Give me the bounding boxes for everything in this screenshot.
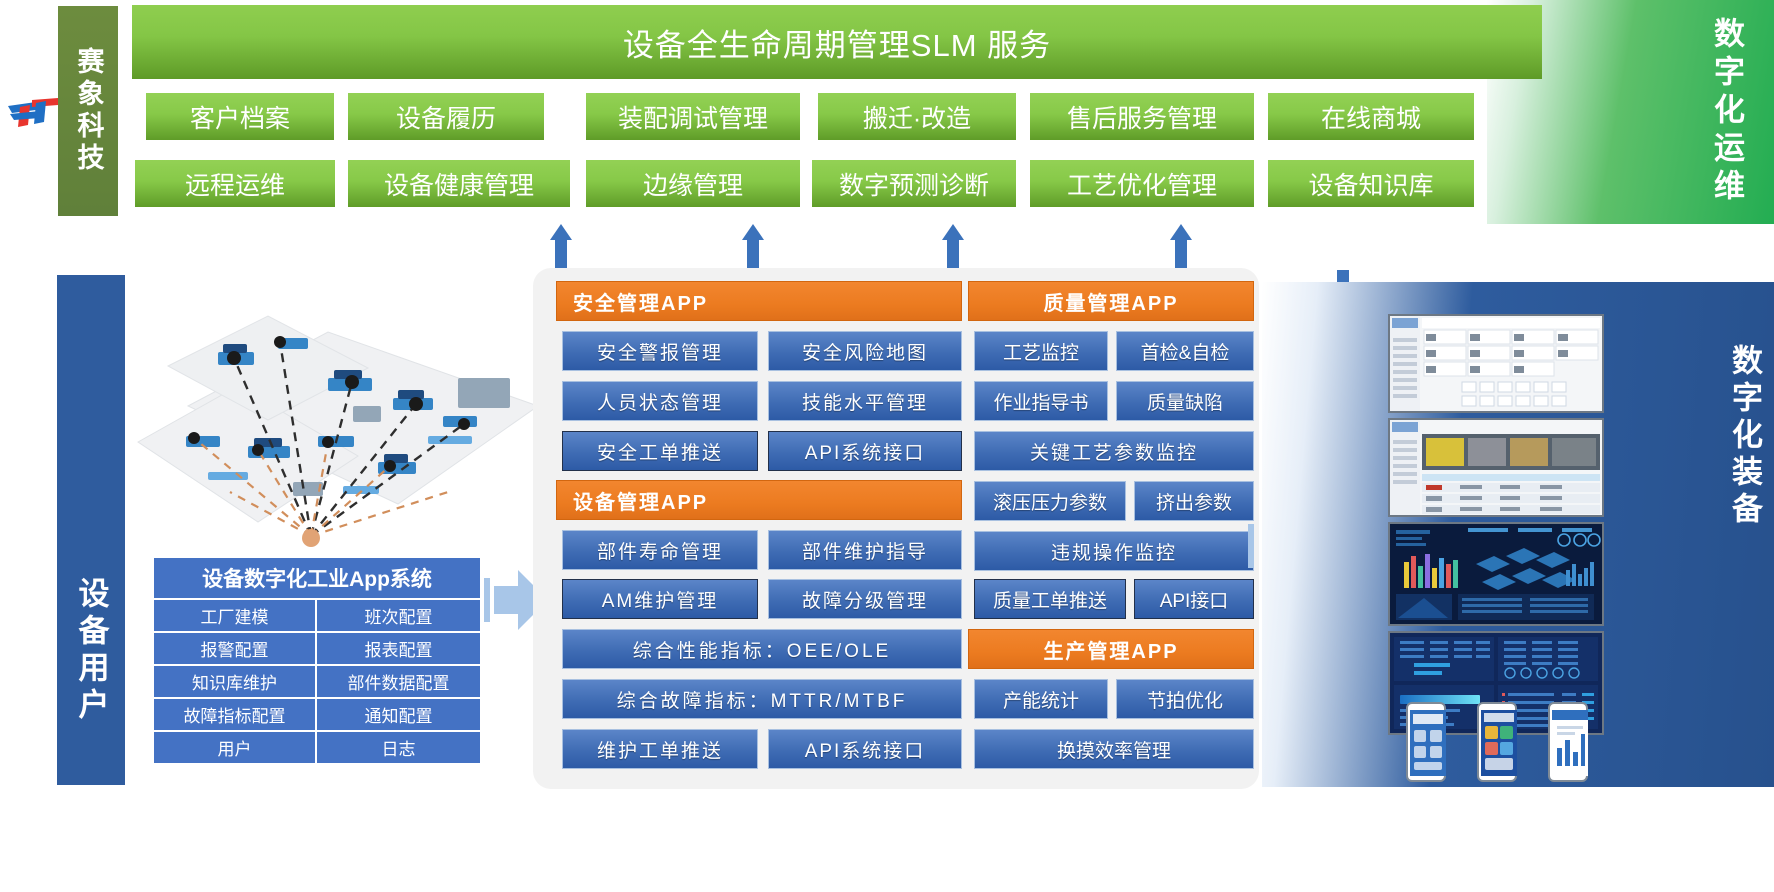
quality-tile-violation-monitoring[interactable]: 违规操作监控 xyxy=(974,531,1254,571)
factory-illustration xyxy=(128,286,548,576)
mobile-app-mock-3 xyxy=(1548,702,1588,782)
safety-app-title: 安全管理APP xyxy=(573,287,708,316)
slm-chip-customer-file[interactable]: 客户档案 xyxy=(146,93,334,140)
chip-label: 设备履历 xyxy=(396,99,496,135)
quality-tile-work-instruction[interactable]: 作业指导书 xyxy=(974,381,1108,421)
chip-label: 搬迁·改造 xyxy=(863,99,971,135)
dashboard-mock-monitoring xyxy=(1388,418,1604,517)
tst-logo xyxy=(6,92,60,132)
chip-label: 数字预测诊断 xyxy=(839,166,989,202)
config-cell-knowledge-maintenance[interactable]: 知识库维护 xyxy=(154,664,317,697)
slm-chip-edge-management[interactable]: 边缘管理 xyxy=(586,160,800,207)
production-tile-takt-optimization[interactable]: 节拍优化 xyxy=(1116,679,1254,719)
production-tile-capacity-statistics[interactable]: 产能统计 xyxy=(974,679,1108,719)
slm-chip-equipment-health[interactable]: 设备健康管理 xyxy=(348,160,570,207)
config-cell-factory-modeling[interactable]: 工厂建模 xyxy=(154,598,317,631)
safety-tile-personnel-status[interactable]: 人员状态管理 xyxy=(562,381,758,421)
quality-tile-key-process-parameter-monitoring[interactable]: 关键工艺参数监控 xyxy=(974,431,1254,471)
chip-label: 售后服务管理 xyxy=(1067,99,1217,135)
equipment-app-title: 设备管理APP xyxy=(573,486,708,515)
slm-chip-online-mall[interactable]: 在线商城 xyxy=(1268,93,1474,140)
quality-tile-quality-defect[interactable]: 质量缺陷 xyxy=(1116,381,1254,421)
brand-left-bar: 赛象科技 xyxy=(58,6,118,216)
slm-chip-assembly-commissioning[interactable]: 装配调试管理 xyxy=(586,93,800,140)
config-cell-alarm-config[interactable]: 报警配置 xyxy=(154,631,317,664)
mobile-app-mock-2 xyxy=(1477,702,1517,782)
safety-tile-work-order-push[interactable]: 安全工单推送 xyxy=(562,431,758,471)
chip-label: 设备健康管理 xyxy=(384,166,534,202)
mobile-app-mock-1 xyxy=(1406,702,1446,782)
device-user-sidebar: 设备用户 xyxy=(57,275,125,785)
config-cell-shift-config[interactable]: 班次配置 xyxy=(317,598,480,631)
quality-tile-rolling-pressure-parameter[interactable]: 滚压压力参数 xyxy=(974,481,1126,521)
slm-chip-knowledge-base[interactable]: 设备知识库 xyxy=(1268,160,1474,207)
safety-tile-skill-level[interactable]: 技能水平管理 xyxy=(768,381,962,421)
slm-title-banner: 设备全生命周期管理SLM 服务 xyxy=(132,5,1542,79)
arrow-tail-bar-2 xyxy=(1248,524,1254,568)
slm-chip-process-optimization[interactable]: 工艺优化管理 xyxy=(1030,160,1254,207)
equipment-tile-api-interface[interactable]: API系统接口 xyxy=(768,729,962,769)
device-user-label: 设备用户 xyxy=(76,577,107,725)
equipment-tile-mttr-mtbf[interactable]: 综合故障指标：MTTR/MTBF xyxy=(562,679,962,719)
chip-label: 客户档案 xyxy=(190,99,290,135)
equipment-tile-maintenance-work-order-push[interactable]: 维护工单推送 xyxy=(562,729,758,769)
digital-equipment-panel: 数字化装备 xyxy=(1262,282,1774,787)
production-tile-changeover-efficiency[interactable]: 换摸效率管理 xyxy=(974,729,1254,769)
equipment-tile-part-maintenance-guide[interactable]: 部件维护指导 xyxy=(768,530,962,570)
chip-label: 装配调试管理 xyxy=(618,99,768,135)
equipment-tile-am-maintenance[interactable]: AM维护管理 xyxy=(562,579,758,619)
quality-tile-api-interface[interactable]: API接口 xyxy=(1134,579,1254,619)
quality-app-title: 质量管理APP xyxy=(1043,287,1178,316)
config-cell-user[interactable]: 用户 xyxy=(154,730,317,763)
equipment-tile-oee-ole[interactable]: 综合性能指标：OEE/OLE xyxy=(562,629,962,669)
quality-tile-extrusion-parameter[interactable]: 挤出参数 xyxy=(1134,481,1254,521)
chip-label: 设备知识库 xyxy=(1308,166,1433,202)
slm-chip-digital-prediction[interactable]: 数字预测诊断 xyxy=(812,160,1016,207)
production-app-title: 生产管理APP xyxy=(1043,635,1178,664)
safety-tile-api-interface[interactable]: API系统接口 xyxy=(768,431,962,471)
quality-app-header: 质量管理APP xyxy=(968,281,1254,321)
brand-right-label: 数字化运维 xyxy=(1711,17,1742,207)
safety-app-header: 安全管理APP xyxy=(556,281,962,321)
config-cell-log[interactable]: 日志 xyxy=(317,730,480,763)
slm-chip-after-sales-service[interactable]: 售后服务管理 xyxy=(1030,93,1254,140)
slm-title-text: 设备全生命周期管理SLM 服务 xyxy=(623,20,1051,65)
equipment-app-header: 设备管理APP xyxy=(556,480,962,520)
config-cell-fault-metric-config[interactable]: 故障指标配置 xyxy=(154,697,317,730)
slm-chip-remote-ops[interactable]: 远程运维 xyxy=(135,160,335,207)
production-app-header: 生产管理APP xyxy=(968,629,1254,669)
brand-left-label: 赛象科技 xyxy=(75,47,102,175)
chip-label: 工艺优化管理 xyxy=(1067,166,1217,202)
safety-tile-risk-map[interactable]: 安全风险地图 xyxy=(768,331,962,371)
slm-chip-equipment-history[interactable]: 设备履历 xyxy=(348,93,544,140)
quality-tile-process-monitoring[interactable]: 工艺监控 xyxy=(974,331,1108,371)
dashboard-mock-3d-factory xyxy=(1388,522,1604,626)
config-table-title: 设备数字化工业App系统 xyxy=(154,558,480,598)
arrow-tail-bar xyxy=(484,578,490,622)
equipment-tile-fault-grading[interactable]: 故障分级管理 xyxy=(768,579,962,619)
slm-architecture-diagram: 赛象科技 数字化运维 设备全生命周期管理SLM 服务 客户档案 设备履历 装配调… xyxy=(0,0,1774,892)
config-cell-part-data-config[interactable]: 部件数据配置 xyxy=(317,664,480,697)
quality-tile-first-self-inspection[interactable]: 首检&自检 xyxy=(1116,331,1254,371)
config-table-grid: 工厂建模 班次配置 报警配置 报表配置 知识库维护 部件数据配置 故障指标配置 … xyxy=(154,598,480,763)
equipment-tile-part-life[interactable]: 部件寿命管理 xyxy=(562,530,758,570)
chip-label: 边缘管理 xyxy=(643,166,743,202)
slm-chip-relocation-renovation[interactable]: 搬迁·改造 xyxy=(818,93,1016,140)
digital-app-system-config-table: 设备数字化工业App系统 工厂建模 班次配置 报警配置 报表配置 知识库维护 部… xyxy=(152,556,482,784)
digital-equipment-label: 数字化装备 xyxy=(1729,344,1760,529)
chip-label: 在线商城 xyxy=(1321,99,1421,135)
dashboard-mock-equipment-list xyxy=(1388,314,1604,413)
chip-label: 远程运维 xyxy=(185,166,285,202)
config-cell-report-config[interactable]: 报表配置 xyxy=(317,631,480,664)
safety-tile-alarm-management[interactable]: 安全警报管理 xyxy=(562,331,758,371)
quality-tile-work-order-push[interactable]: 质量工单推送 xyxy=(974,579,1126,619)
config-cell-notification-config[interactable]: 通知配置 xyxy=(317,697,480,730)
